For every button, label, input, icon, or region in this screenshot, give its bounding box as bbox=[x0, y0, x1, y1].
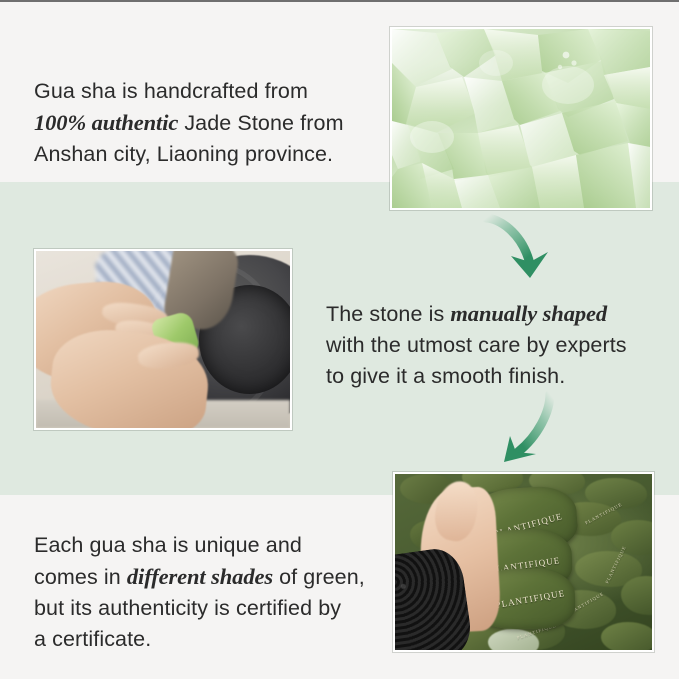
shaping-line-1-pre: The stone is bbox=[326, 302, 450, 326]
shaping-text-block: The stone is manually shaped with the ut… bbox=[326, 298, 662, 392]
arrow-down-left-icon bbox=[478, 392, 574, 476]
raw-jade-stone-photo bbox=[390, 27, 652, 210]
craftsman-canvas bbox=[36, 251, 290, 428]
origin-text-block: Gua sha is handcrafted from 100% authent… bbox=[34, 76, 374, 170]
arrow-down-right-icon bbox=[478, 212, 574, 292]
uniqueness-line-4: a certificate. bbox=[34, 627, 151, 651]
uniqueness-line-1: Each gua sha is unique and bbox=[34, 533, 302, 557]
uniqueness-emphasis: different shades bbox=[127, 564, 273, 589]
uniqueness-text-block: Each gua sha is unique and comes in diff… bbox=[34, 530, 386, 655]
shaping-line-2: with the utmost care by experts bbox=[326, 333, 627, 357]
uniqueness-line-3: but its authenticity is certified by bbox=[34, 596, 341, 620]
pile-stone bbox=[601, 622, 652, 650]
shaping-emphasis: manually shaped bbox=[450, 301, 607, 326]
origin-line-2-rest: Jade Stone from bbox=[178, 111, 343, 135]
origin-line-1: Gua sha is handcrafted from bbox=[34, 79, 308, 103]
infographic-page: Gua sha is handcrafted from 100% authent… bbox=[0, 0, 679, 679]
uniqueness-line-2-post: of green, bbox=[273, 565, 365, 589]
origin-emphasis: 100% authentic bbox=[34, 110, 178, 135]
raw-jade-canvas bbox=[392, 29, 650, 208]
jade-shard-shapes bbox=[392, 29, 650, 208]
shaping-line-3: to give it a smooth finish. bbox=[326, 364, 565, 388]
gua-sha-product-photo: PLANTIFIQUE PLANTIFIQUE PLANTIFIQUE PLAN… bbox=[393, 472, 654, 652]
craftsman-shaping-photo bbox=[34, 249, 292, 430]
origin-line-3: Anshan city, Liaoning province. bbox=[34, 142, 333, 166]
gua-sha-canvas: PLANTIFIQUE PLANTIFIQUE PLANTIFIQUE PLAN… bbox=[395, 474, 652, 650]
uniqueness-line-2-pre: comes in bbox=[34, 565, 127, 589]
